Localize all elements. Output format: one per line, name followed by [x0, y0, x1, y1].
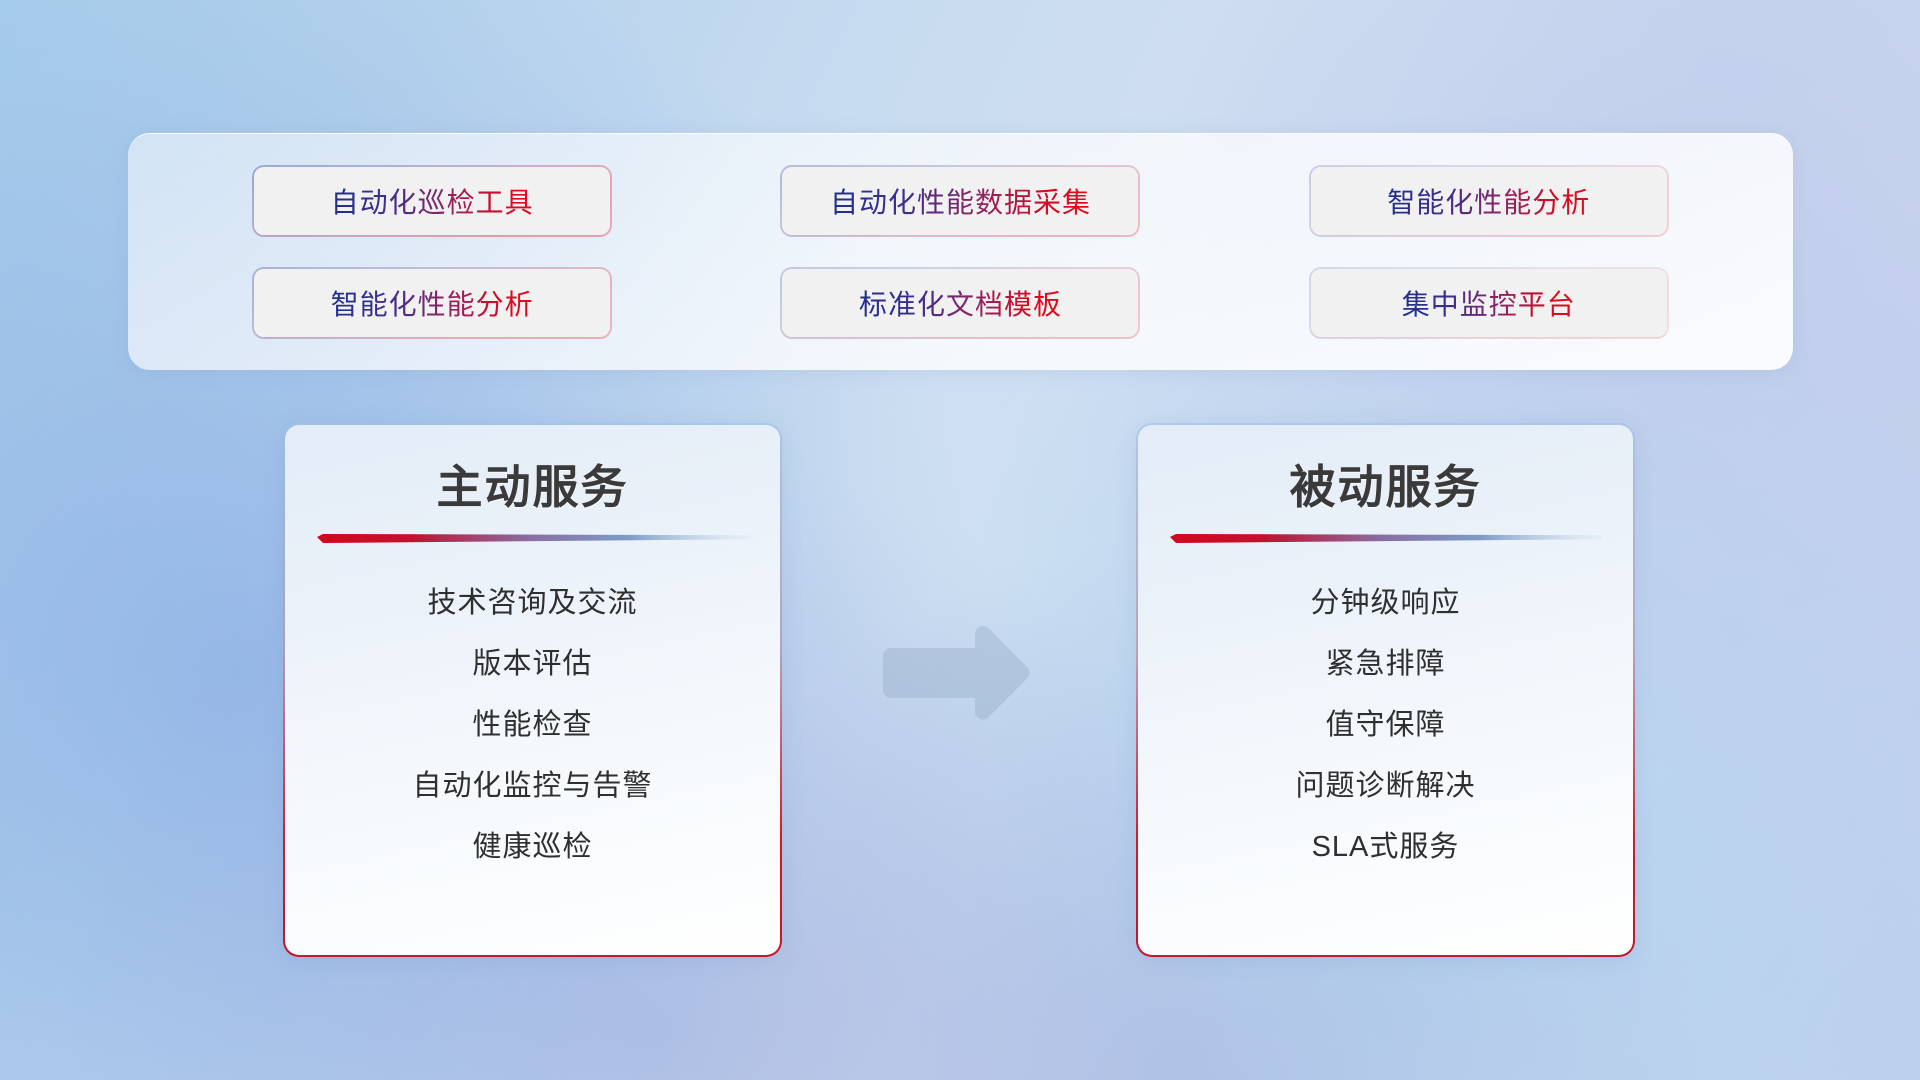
tool-pill-label: 标准化文档模板	[859, 283, 1062, 323]
list-item[interactable]: 自动化监控与告警	[285, 756, 780, 817]
tool-pill-performance-collection[interactable]: 自动化性能数据采集	[782, 167, 1138, 235]
card-divider	[317, 533, 749, 547]
flow-arrow-right-icon	[875, 620, 1037, 730]
list-item[interactable]: 问题诊断解决	[1138, 756, 1633, 817]
list-item[interactable]: 分钟级响应	[1138, 573, 1633, 634]
tool-pill-central-monitoring[interactable]: 集中监控平台	[1311, 269, 1667, 337]
tool-pill-label: 集中监控平台	[1402, 283, 1576, 323]
tool-pill-automation-inspection[interactable]: 自动化巡检工具	[254, 167, 610, 235]
list-item[interactable]: 值守保障	[1138, 695, 1633, 756]
card-title: 主动服务	[285, 451, 780, 517]
tool-pill-label: 自动化性能数据采集	[830, 181, 1091, 221]
tools-panel: 自动化巡检工具 自动化性能数据采集 智能化性能分析 智能化性能分析 标准化文档模…	[128, 133, 1793, 370]
list-item[interactable]: SLA式服务	[1138, 817, 1633, 878]
tool-pill-intelligent-analysis[interactable]: 智能化性能分析	[1311, 167, 1667, 235]
list-item[interactable]: 健康巡检	[285, 817, 780, 878]
service-card-reactive[interactable]: 被动服务 分钟级响应 紧急排障 值守保障 问题诊断解决 SLA式服务	[1138, 425, 1633, 955]
card-divider	[1170, 533, 1602, 547]
list-item[interactable]: 紧急排障	[1138, 634, 1633, 695]
card-title: 被动服务	[1138, 451, 1633, 517]
list-item[interactable]: 性能检查	[285, 695, 780, 756]
card-item-list: 分钟级响应 紧急排障 值守保障 问题诊断解决 SLA式服务	[1138, 573, 1633, 878]
tool-pill-intelligent-analysis-2[interactable]: 智能化性能分析	[254, 269, 610, 337]
list-item[interactable]: 技术咨询及交流	[285, 573, 780, 634]
tool-pill-label: 智能化性能分析	[1387, 181, 1590, 221]
list-item[interactable]: 版本评估	[285, 634, 780, 695]
card-item-list: 技术咨询及交流 版本评估 性能检查 自动化监控与告警 健康巡检	[285, 573, 780, 878]
tool-pill-document-template[interactable]: 标准化文档模板	[782, 269, 1138, 337]
tool-pill-label: 智能化性能分析	[331, 283, 534, 323]
tool-pill-label: 自动化巡检工具	[331, 181, 534, 221]
service-card-proactive[interactable]: 主动服务 技术咨询及交流 版本评估 性能检查 自动化监控与告警 健康巡检	[285, 425, 780, 955]
